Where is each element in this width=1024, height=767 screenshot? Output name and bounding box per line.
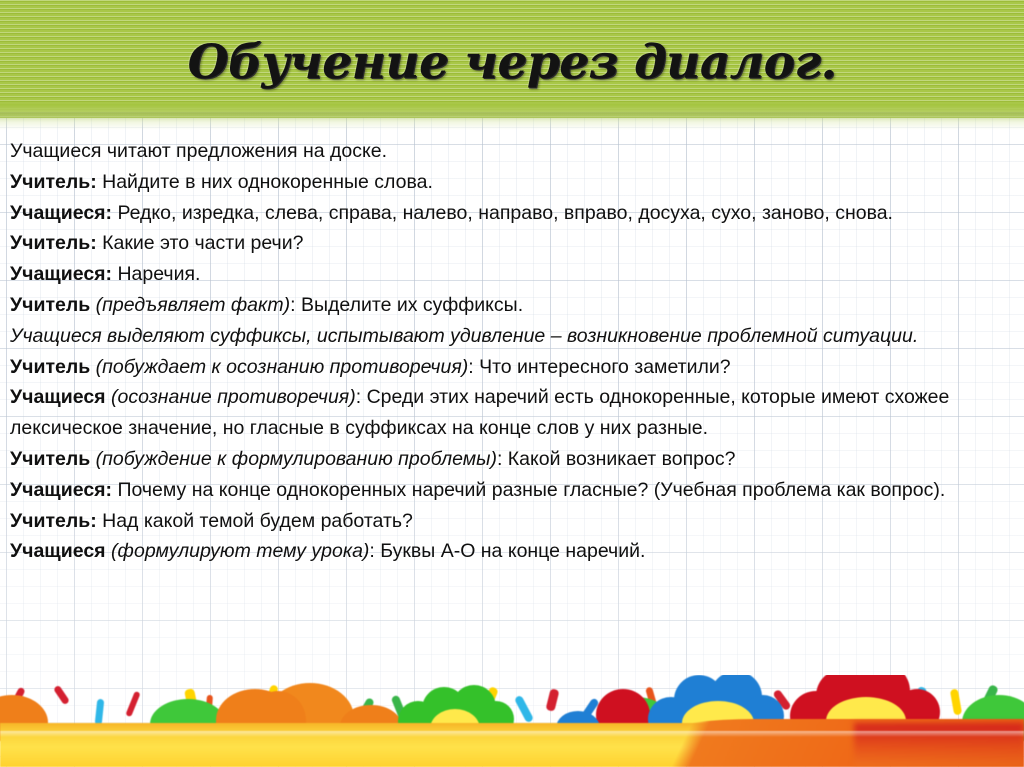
dialogue-line: Учащиеся (осознание противоречия): Среди… [10, 382, 950, 444]
stage-direction: (побуждение к формулированию проблемы) [90, 448, 497, 470]
line-text: Почему на конце однокоренных наречий раз… [112, 479, 945, 501]
dialogue-line: Учащиеся читают предложения на доске. [10, 136, 950, 167]
dialogue-line: Учитель: Какие это части речи? [10, 228, 950, 259]
confetti-stick [53, 685, 70, 705]
title-band-shadow [0, 112, 1024, 120]
slide-title: Обучение через диалог. [0, 34, 1024, 92]
ground-shine [0, 731, 1024, 737]
line-text: Над какой темой будем работать? [97, 510, 413, 532]
slide-root: Обучение через диалог. Учащиеся читают п… [0, 0, 1024, 767]
line-text: : Буквы А-О на конце наречий. [369, 540, 645, 562]
confetti-stick [545, 688, 559, 712]
dialogue-line: Учитель: Над какой темой будем работать? [10, 506, 950, 537]
dialogue-line: Учащиеся выделяют суффиксы, испытывают у… [10, 321, 950, 352]
dialogue-line: Учащиеся: Редко, изредка, слева, справа,… [10, 198, 950, 229]
line-text: Найдите в них однокоренные слова. [97, 171, 433, 193]
flower-cluster [0, 675, 1024, 767]
line-text: : Какой возникает вопрос? [497, 448, 736, 470]
confetti-stick [125, 691, 140, 717]
line-text: Наречия. [112, 263, 200, 285]
speaker-label: Учитель: [10, 232, 97, 254]
line-text: Какие это части речи? [97, 232, 304, 254]
dialogue-line: Учитель (предъявляет факт): Выделите их … [10, 290, 950, 321]
confetti-stick [514, 695, 534, 723]
dialogue-line: Учащиеся: Почему на конце однокоренных н… [10, 475, 950, 506]
speaker-label: Учитель [10, 294, 90, 316]
flower-border-decoration [0, 675, 1024, 767]
dialogue-line: Учитель (побуждает к осознанию противоре… [10, 352, 950, 383]
dialogue-body: Учащиеся читают предложения на доске. Уч… [10, 136, 950, 567]
line-text: : Выделите их суффиксы. [290, 294, 523, 316]
ground-red-blur [854, 723, 1024, 767]
speaker-label: Учащиеся: [10, 479, 112, 501]
dialogue-line: Учитель: Найдите в них однокоренные слов… [10, 167, 950, 198]
dialogue-line: Учитель (побуждение к формулированию про… [10, 444, 950, 475]
line-text: : Что интересного заметили? [468, 356, 730, 378]
speaker-label: Учащиеся: [10, 263, 112, 285]
speaker-label: Учащиеся [10, 540, 106, 562]
confetti-stick [950, 689, 962, 716]
line-text: Учащиеся читают предложения на доске. [10, 140, 387, 162]
line-text: Учащиеся выделяют суффиксы, испытывают у… [10, 325, 918, 347]
dialogue-line: Учащиеся (формулируют тему урока): Буквы… [10, 536, 950, 567]
line-text: Редко, изредка, слева, справа, налево, н… [112, 202, 893, 224]
dialogue-line: Учащиеся: Наречия. [10, 259, 950, 290]
speaker-label: Учитель [10, 448, 90, 470]
stage-direction: (формулируют тему урока) [106, 540, 370, 562]
speaker-label: Учитель [10, 356, 90, 378]
confetti-stick [95, 699, 105, 726]
stage-direction: (побуждает к осознанию противоречия) [90, 356, 468, 378]
speaker-label: Учитель: [10, 171, 97, 193]
stage-direction: (осознание противоречия) [106, 386, 356, 408]
speaker-label: Учащиеся: [10, 202, 112, 224]
speaker-label: Учитель: [10, 510, 97, 532]
stage-direction: (предъявляет факт) [90, 294, 290, 316]
speaker-label: Учащиеся [10, 386, 106, 408]
